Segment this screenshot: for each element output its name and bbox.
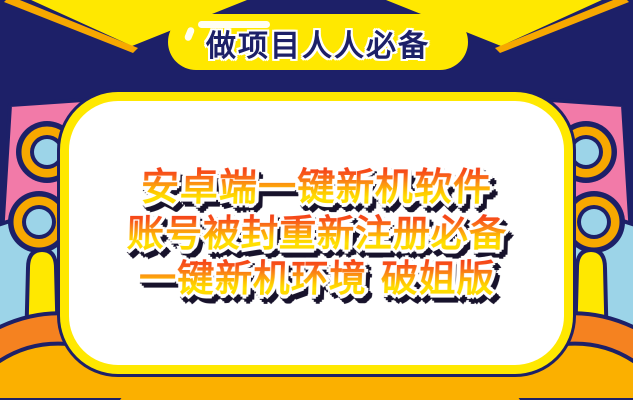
badge-label: 做项目人人必备 bbox=[206, 21, 430, 65]
headline-line-2: 账号被封重新注册必备 bbox=[126, 213, 507, 254]
headline-line-1: 安卓端一键新机软件 bbox=[140, 166, 493, 209]
pill-gloss-dot bbox=[184, 26, 196, 42]
headline-line-3: 一键新机环境 破姐版 bbox=[138, 258, 495, 299]
main-card: 安卓端一键新机软件 账号被封重新注册必备 一键新机环境 破姐版 bbox=[60, 92, 573, 374]
badge-pill: 做项目人人必备 bbox=[168, 14, 468, 70]
promo-poster: 安卓端一键新机软件 账号被封重新注册必备 一键新机环境 破姐版 做项目人人必备 bbox=[0, 0, 633, 400]
